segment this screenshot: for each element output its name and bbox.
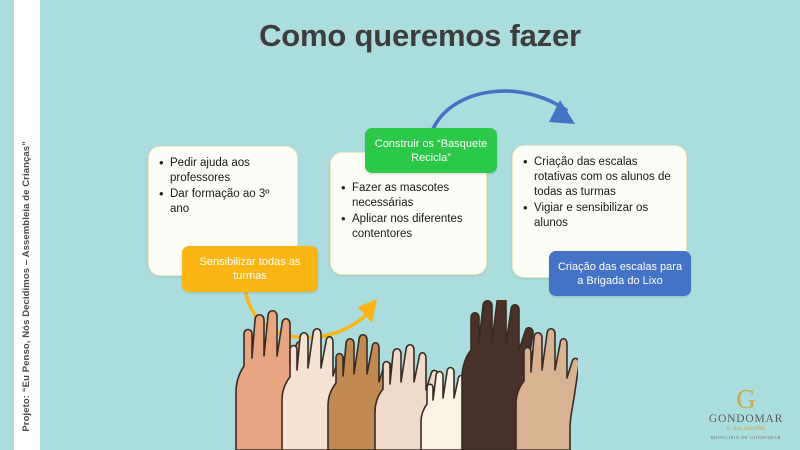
page-title: Como queremos fazer: [60, 18, 780, 54]
card-left-list: Pedir ajuda aos professores Dar formação…: [149, 147, 297, 217]
logo-script-text: a sua escolha: [700, 424, 792, 432]
list-item: Fazer as mascotes necessárias: [340, 181, 478, 211]
raised-hands-illustration: [218, 300, 578, 450]
list-item: Pedir ajuda aos professores: [158, 156, 289, 186]
list-item: Aplicar nos diferentes contentores: [340, 212, 478, 242]
project-side-label: Projeto: “Eu Penso, Nós Decidimos – Asse…: [14, 0, 40, 450]
list-item: Criação das escalas rotativas com os alu…: [522, 155, 678, 200]
chip-basquete-recicla: Construir os “Basquete Recicla”: [365, 128, 497, 173]
logo-mark-icon: G: [700, 386, 792, 412]
project-side-label-text: Projeto: “Eu Penso, Nós Decidimos – Asse…: [22, 141, 32, 432]
gondomar-logo: G GONDOMAR a sua escolha MUNICÍPIO DE GO…: [700, 386, 792, 440]
logo-subtitle: MUNICÍPIO DE GONDOMAR: [700, 435, 792, 440]
card-right-list: Criação das escalas rotativas com os alu…: [513, 146, 686, 231]
blue-arrow: [433, 91, 575, 129]
list-item: Vigiar e sensibilizar os alunos: [522, 201, 678, 231]
chip-sensibilizar-turmas: Sensibilizar todas as turmas: [182, 246, 318, 292]
list-item: Dar formação ao 3º ano: [158, 187, 289, 217]
chip-brigada-do-lixo: Criação das escalas para a Brigada do Li…: [549, 251, 691, 296]
slide-canvas: Projeto: “Eu Penso, Nós Decidimos – Asse…: [0, 0, 800, 450]
